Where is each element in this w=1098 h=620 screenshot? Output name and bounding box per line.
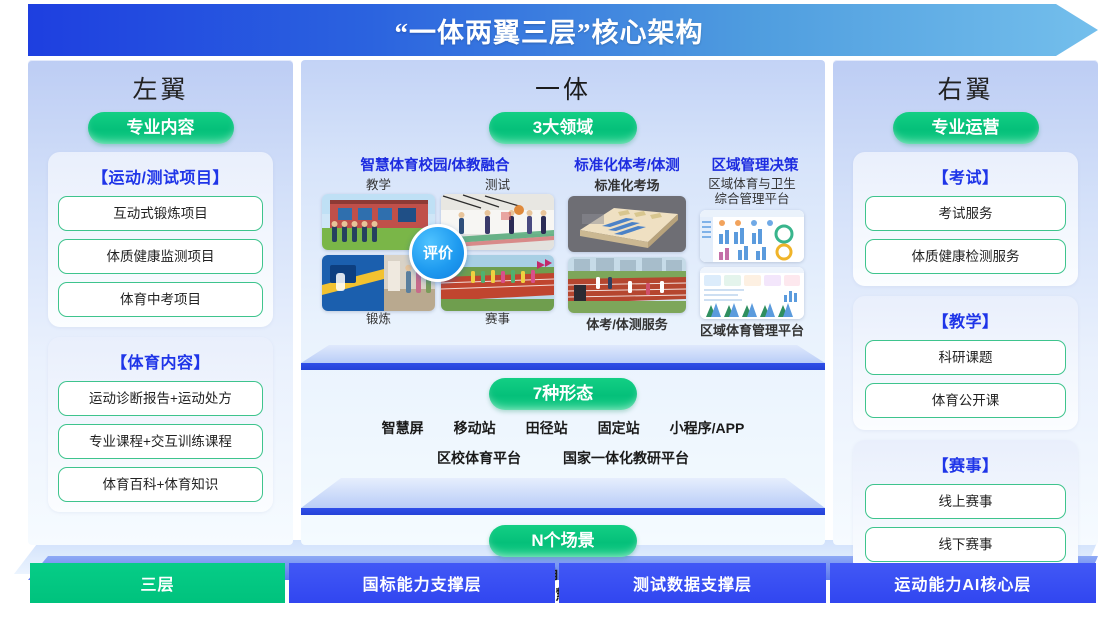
- architecture-diagram: “一体两翼三层”核心架构 左翼 专业内容 【运动/测试项目】 互动式锻炼项目 体…: [0, 0, 1098, 620]
- form-item-4: 小程序/APP: [670, 418, 745, 438]
- slab-top: [301, 478, 825, 508]
- card-right-group-2: 【赛事】 线上赛事 线下赛事: [853, 440, 1078, 574]
- thumb-region-dashboard-1[interactable]: [700, 210, 804, 262]
- form-item-1: 移动站: [454, 418, 496, 438]
- cap-test-wrap: 测试: [441, 177, 554, 194]
- card-left-group-1: 【体育内容】 运动诊断报告+运动处方 专业课程+交互训练课程 体育百科+体育知识: [48, 337, 273, 512]
- right-wing-cards: 【考试】 考试服务 体质健康检测服务 【教学】 科研课题 体育公开课 【赛事】 …: [833, 144, 1098, 574]
- bottom-layer-1[interactable]: 测试数据支撑层: [559, 563, 825, 603]
- bottom-layer-0[interactable]: 国标能力支撑层: [289, 563, 555, 603]
- left-wing-title: 左翼: [28, 60, 293, 106]
- cap-teaching-wrap: 教学: [322, 177, 435, 194]
- domain-headings: 智慧体育校园/体教融合 标准化体考/体测 区域管理决策: [301, 144, 825, 175]
- thumb-exam-service[interactable]: [568, 257, 686, 313]
- scenes-pill[interactable]: N个场景: [489, 525, 637, 557]
- chip-right-2-1[interactable]: 线下赛事: [865, 527, 1066, 562]
- form-item-3: 固定站: [598, 418, 640, 438]
- card-heading: 【考试】: [865, 158, 1066, 196]
- columns-container: 左翼 专业内容 【运动/测试项目】 互动式锻炼项目 体质健康监测项目 体育中考项…: [28, 60, 1098, 545]
- domain-column-exam: 标准化考场: [568, 177, 686, 339]
- card-right-group-0: 【考试】 考试服务 体质健康检测服务: [853, 152, 1078, 286]
- caption-region-platform-l2: 综合管理平台: [700, 192, 804, 207]
- card-heading: 【运动/测试项目】: [58, 158, 263, 196]
- caption-region-management-platform: 区域体育管理平台: [700, 322, 804, 339]
- bottom-label-three-layers[interactable]: 三层: [30, 563, 285, 603]
- left-wing-panel: 左翼 专业内容 【运动/测试项目】 互动式锻炼项目 体质健康监测项目 体育中考项…: [28, 60, 293, 545]
- chip-left-0-0[interactable]: 互动式锻炼项目: [58, 196, 263, 231]
- chip-right-1-0[interactable]: 科研课题: [865, 340, 1066, 375]
- forms-row-2: 区校体育平台 国家一体化教研平台: [301, 438, 825, 468]
- card-right-group-1: 【教学】 科研课题 体育公开课: [853, 296, 1078, 430]
- caption-region-platform-l1: 区域体育与卫生: [700, 177, 804, 192]
- center-title: 一体: [301, 60, 825, 106]
- right-wing-panel: 右翼 专业运营 【考试】 考试服务 体质健康检测服务 【教学】 科研课题 体育公…: [833, 60, 1098, 545]
- card-heading: 【教学】: [865, 302, 1066, 340]
- card-left-group-0: 【运动/测试项目】 互动式锻炼项目 体质健康监测项目 体育中考项目: [48, 152, 273, 327]
- slab-bar: [301, 363, 825, 370]
- caption-exam-service: 体考/体测服务: [568, 316, 686, 333]
- forms-row-1: 智慧屏 移动站 田径站 固定站 小程序/APP: [301, 410, 825, 438]
- slab-domains: [301, 345, 825, 370]
- caption-teaching: 教学: [322, 177, 435, 194]
- right-wing-title: 右翼: [833, 60, 1098, 106]
- form-item-5: 区校体育平台: [437, 448, 521, 468]
- right-wing-pill[interactable]: 专业运营: [893, 112, 1039, 144]
- chip-right-0-1[interactable]: 体质健康检测服务: [865, 239, 1066, 274]
- caption-exercise: 锻炼: [322, 311, 435, 328]
- left-wing-cards: 【运动/测试项目】 互动式锻炼项目 体质健康监测项目 体育中考项目 【体育内容】…: [28, 144, 293, 512]
- chip-left-1-0[interactable]: 运动诊断报告+运动处方: [58, 381, 263, 416]
- caption-standard-exam-hall: 标准化考场: [568, 177, 686, 194]
- thumb-region-dashboard-2[interactable]: [700, 267, 804, 319]
- chip-left-0-1[interactable]: 体质健康监测项目: [58, 239, 263, 274]
- domain-column-school: 教学 测试: [322, 177, 554, 339]
- domains-pill[interactable]: 3大领域: [489, 112, 637, 144]
- slab-bar: [301, 508, 825, 515]
- chip-right-1-1[interactable]: 体育公开课: [865, 383, 1066, 418]
- domain-body: 教学 测试: [301, 175, 825, 339]
- domain-heading-2: 区域管理决策: [703, 154, 807, 175]
- bottom-layer-bar: 三层 国标能力支撑层 测试数据支撑层 运动能力AI核心层: [30, 563, 1096, 603]
- card-heading: 【体育内容】: [58, 343, 263, 381]
- slab-forms: [301, 478, 825, 515]
- chip-left-1-2[interactable]: 体育百科+体育知识: [58, 467, 263, 502]
- left-wing-pill[interactable]: 专业内容: [88, 112, 234, 144]
- domain-heading-0: 智慧体育校园/体教融合: [319, 154, 551, 175]
- domain-column-region: 区域体育与卫生 综合管理平台: [700, 177, 804, 339]
- card-heading: 【赛事】: [865, 446, 1066, 484]
- chip-left-0-2[interactable]: 体育中考项目: [58, 282, 263, 317]
- thumb-exam-hall-3d[interactable]: [568, 196, 686, 252]
- chip-right-2-0[interactable]: 线上赛事: [865, 484, 1066, 519]
- domain-heading-1: 标准化体考/体测: [565, 154, 689, 175]
- forms-pill[interactable]: 7种形态: [489, 378, 637, 410]
- form-item-6: 国家一体化教研平台: [563, 448, 689, 468]
- slab-top: [301, 345, 825, 363]
- center-panel: 一体 3大领域 智慧体育校园/体教融合 标准化体考/体测 区域管理决策 教学 测…: [301, 60, 825, 545]
- chip-right-0-0[interactable]: 考试服务: [865, 196, 1066, 231]
- page-title: “一体两翼三层”核心架构: [28, 4, 1098, 56]
- chip-left-1-1[interactable]: 专业课程+交互训练课程: [58, 424, 263, 459]
- caption-test: 测试: [441, 177, 554, 194]
- form-item-0: 智慧屏: [382, 418, 424, 438]
- evaluation-badge[interactable]: 评价: [409, 224, 467, 282]
- caption-event: 赛事: [441, 311, 554, 328]
- form-item-2: 田径站: [526, 418, 568, 438]
- header-banner: “一体两翼三层”核心架构: [28, 4, 1098, 56]
- bottom-layer-2[interactable]: 运动能力AI核心层: [830, 563, 1096, 603]
